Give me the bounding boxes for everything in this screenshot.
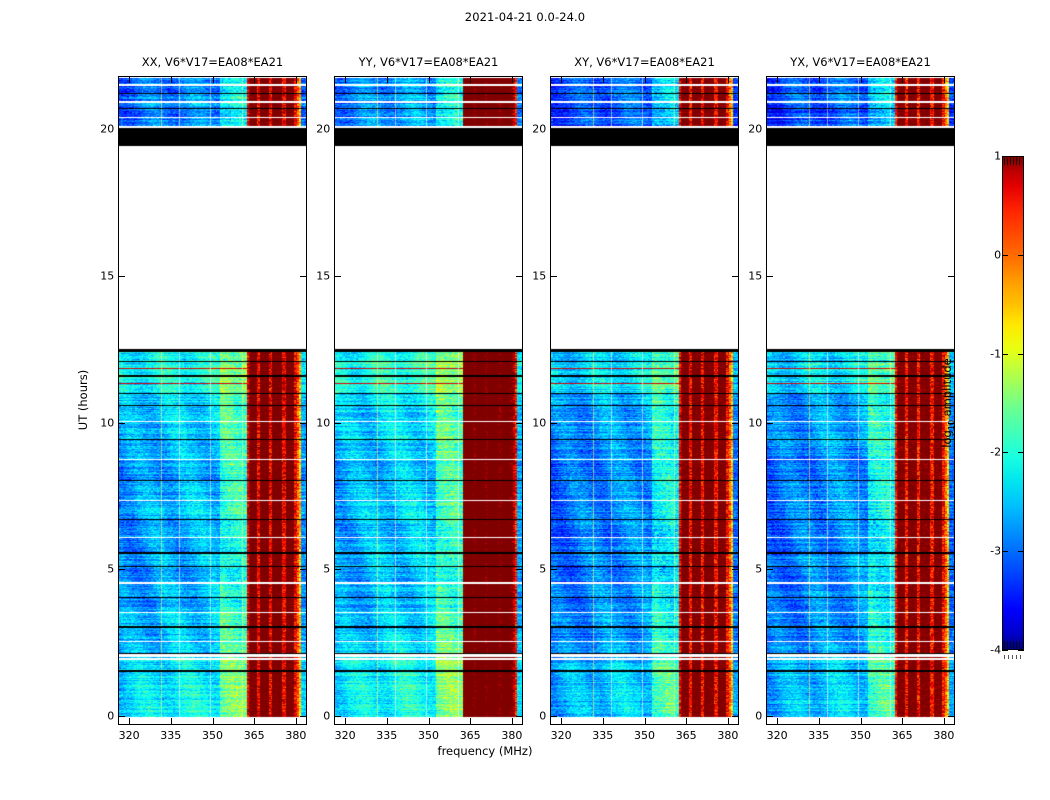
panel-xx[interactable]: XX, V6*V17=EA08*EA2105101520320335350365… (118, 76, 307, 725)
colorbar-label: log10 amplitude (940, 358, 956, 448)
x-tick-top (129, 76, 130, 83)
x-tick-label: 320 (767, 729, 788, 742)
y-tick-label: 0 (323, 710, 330, 723)
colorbar-tick-left (1002, 156, 1008, 157)
colorbar-tick-left (1002, 255, 1008, 256)
x-tick-top (387, 76, 388, 83)
x-tick-label: 335 (808, 729, 829, 742)
colorbar-tick-label: -3 (990, 545, 1001, 558)
x-tick-top (603, 76, 604, 83)
y-tick-right (516, 423, 523, 424)
x-tick-label: 365 (892, 729, 913, 742)
y-tick-right (948, 569, 955, 570)
colorbar-tick (1018, 156, 1024, 157)
colorbar-tick (1018, 452, 1024, 453)
colorbar-tick-label: -1 (990, 347, 1001, 360)
x-tick (902, 718, 903, 725)
x-tick (861, 718, 862, 725)
x-tick (296, 718, 297, 725)
x-tick-label: 335 (376, 729, 397, 742)
y-tick (550, 129, 557, 130)
panel-xy[interactable]: XY, V6*V17=EA08*EA2105101520320335350365… (550, 76, 739, 725)
y-tick-right (300, 716, 307, 717)
x-tick-top (345, 76, 346, 83)
y-tick-label: 20 (316, 122, 330, 135)
x-tick-top (861, 76, 862, 83)
y-tick (334, 423, 341, 424)
x-tick-top (512, 76, 513, 83)
y-tick-label: 0 (755, 710, 762, 723)
y-tick-label: 10 (532, 416, 546, 429)
y-axis-label: UT (hours) (76, 370, 90, 430)
y-tick-label: 15 (748, 269, 762, 282)
x-tick-label: 350 (634, 729, 655, 742)
x-tick-top (213, 76, 214, 83)
y-tick-right (516, 129, 523, 130)
x-tick-top (171, 76, 172, 83)
colorbar[interactable]: 10-1-2-3-4 log10 amplitude (1002, 156, 1024, 650)
y-tick-label: 20 (100, 122, 114, 135)
x-tick-top (296, 76, 297, 83)
y-tick (766, 129, 773, 130)
x-tick-top (686, 76, 687, 83)
y-tick-right (516, 276, 523, 277)
x-tick (603, 718, 604, 725)
colorbar-tick (1018, 255, 1024, 256)
x-tick-top (777, 76, 778, 83)
x-tick-top (254, 76, 255, 83)
x-tick (129, 718, 130, 725)
y-tick-right (732, 569, 739, 570)
waterfall-image-xx (119, 77, 307, 725)
y-tick (118, 569, 125, 570)
colorbar-gradient (1002, 156, 1024, 650)
y-tick-label: 15 (100, 269, 114, 282)
y-tick-right (300, 569, 307, 570)
x-tick (254, 718, 255, 725)
x-tick (944, 718, 945, 725)
y-tick (766, 716, 773, 717)
x-tick-label: 335 (592, 729, 613, 742)
x-tick-top (902, 76, 903, 83)
panel-yx[interactable]: YX, V6*V17=EA08*EA2105101520320335350365… (766, 76, 955, 725)
colorbar-tick (1018, 354, 1024, 355)
x-tick (429, 718, 430, 725)
figure-canvas: 2021-04-21 0.0-24.0 XX, V6*V17=EA08*EA21… (0, 0, 1050, 800)
x-axis-label: frequency (MHz) (0, 744, 970, 758)
panel-title-yy: YY, V6*V17=EA08*EA21 (359, 55, 499, 69)
colorbar-under-marker (1004, 655, 1022, 659)
waterfall-image-yx (767, 77, 955, 725)
y-tick (334, 569, 341, 570)
colorbar-tick-label: 1 (994, 150, 1001, 163)
y-tick-label: 20 (748, 122, 762, 135)
panel-title-xy: XY, V6*V17=EA08*EA21 (574, 55, 715, 69)
y-tick-right (300, 276, 307, 277)
colorbar-tick-label: -4 (990, 644, 1001, 657)
x-tick-label: 335 (160, 729, 181, 742)
x-tick-top (645, 76, 646, 83)
y-tick-right (732, 423, 739, 424)
x-tick-label: 365 (460, 729, 481, 742)
x-tick-top (470, 76, 471, 83)
panel-title-yx: YX, V6*V17=EA08*EA21 (790, 55, 931, 69)
y-tick (766, 423, 773, 424)
x-tick (171, 718, 172, 725)
x-tick (728, 718, 729, 725)
x-tick-label: 365 (676, 729, 697, 742)
axes-xx (118, 76, 307, 725)
y-tick (550, 716, 557, 717)
x-tick (387, 718, 388, 725)
y-tick (550, 276, 557, 277)
axes-yx (766, 76, 955, 725)
colorbar-tick-left (1002, 354, 1008, 355)
y-tick-label: 15 (532, 269, 546, 282)
y-tick-label: 0 (539, 710, 546, 723)
y-tick-right (732, 129, 739, 130)
x-tick (645, 718, 646, 725)
x-tick-label: 380 (285, 729, 306, 742)
panel-yy[interactable]: YY, V6*V17=EA08*EA2105101520320335350365… (334, 76, 523, 725)
waterfall-image-xy (551, 77, 739, 725)
x-tick (819, 718, 820, 725)
y-tick (334, 129, 341, 130)
x-tick-label: 380 (501, 729, 522, 742)
x-tick-top (819, 76, 820, 83)
colorbar-under-cap (1004, 641, 1022, 648)
y-tick-right (516, 716, 523, 717)
y-tick-label: 10 (316, 416, 330, 429)
x-tick (213, 718, 214, 725)
y-tick-label: 20 (532, 122, 546, 135)
x-tick (470, 718, 471, 725)
y-tick-label: 10 (100, 416, 114, 429)
y-tick-right (300, 129, 307, 130)
x-tick-top (561, 76, 562, 83)
y-tick-label: 15 (316, 269, 330, 282)
y-tick-label: 5 (323, 563, 330, 576)
y-tick-right (948, 716, 955, 717)
y-tick (550, 569, 557, 570)
x-tick (561, 718, 562, 725)
colorbar-label-sub: 10 (947, 420, 956, 430)
colorbar-tick-label: 0 (994, 248, 1001, 261)
y-tick-right (300, 423, 307, 424)
axes-yy (334, 76, 523, 725)
colorbar-label-main: log (940, 430, 954, 448)
panel-title-xx: XX, V6*V17=EA08*EA21 (142, 55, 283, 69)
x-tick-label: 320 (119, 729, 140, 742)
x-tick-label: 320 (551, 729, 572, 742)
y-tick (550, 423, 557, 424)
x-tick-top (429, 76, 430, 83)
colorbar-tick-left (1002, 551, 1008, 552)
x-tick-label: 380 (933, 729, 954, 742)
y-tick-label: 10 (748, 416, 762, 429)
x-tick-label: 320 (335, 729, 356, 742)
x-tick-top (728, 76, 729, 83)
y-tick (118, 129, 125, 130)
y-tick-right (732, 716, 739, 717)
colorbar-over-cap (1004, 158, 1022, 165)
waterfall-image-yy (335, 77, 523, 725)
y-tick (766, 569, 773, 570)
y-tick-label: 5 (539, 563, 546, 576)
x-tick-top (944, 76, 945, 83)
y-tick (334, 276, 341, 277)
x-tick-label: 365 (244, 729, 265, 742)
figure-suptitle: 2021-04-21 0.0-24.0 (0, 10, 1050, 24)
y-tick-right (948, 276, 955, 277)
y-tick-right (948, 129, 955, 130)
x-tick-label: 380 (717, 729, 738, 742)
colorbar-tick (1018, 650, 1024, 651)
colorbar-tick (1018, 551, 1024, 552)
x-tick-label: 350 (202, 729, 223, 742)
axes-xy (550, 76, 739, 725)
y-tick (766, 276, 773, 277)
y-tick (118, 716, 125, 717)
x-tick-label: 350 (850, 729, 871, 742)
colorbar-tick-label: -2 (990, 446, 1001, 459)
x-tick (686, 718, 687, 725)
x-tick (512, 718, 513, 725)
x-tick-label: 350 (418, 729, 439, 742)
y-tick (334, 716, 341, 717)
y-tick-label: 5 (107, 563, 114, 576)
y-tick (118, 423, 125, 424)
colorbar-tick-left (1002, 650, 1008, 651)
y-tick-right (732, 276, 739, 277)
x-tick (777, 718, 778, 725)
colorbar-label-tail: amplitude (940, 358, 954, 420)
x-tick (345, 718, 346, 725)
y-tick-label: 5 (755, 563, 762, 576)
colorbar-tick-left (1002, 452, 1008, 453)
y-tick-right (516, 569, 523, 570)
y-tick-label: 0 (107, 710, 114, 723)
y-tick (118, 276, 125, 277)
